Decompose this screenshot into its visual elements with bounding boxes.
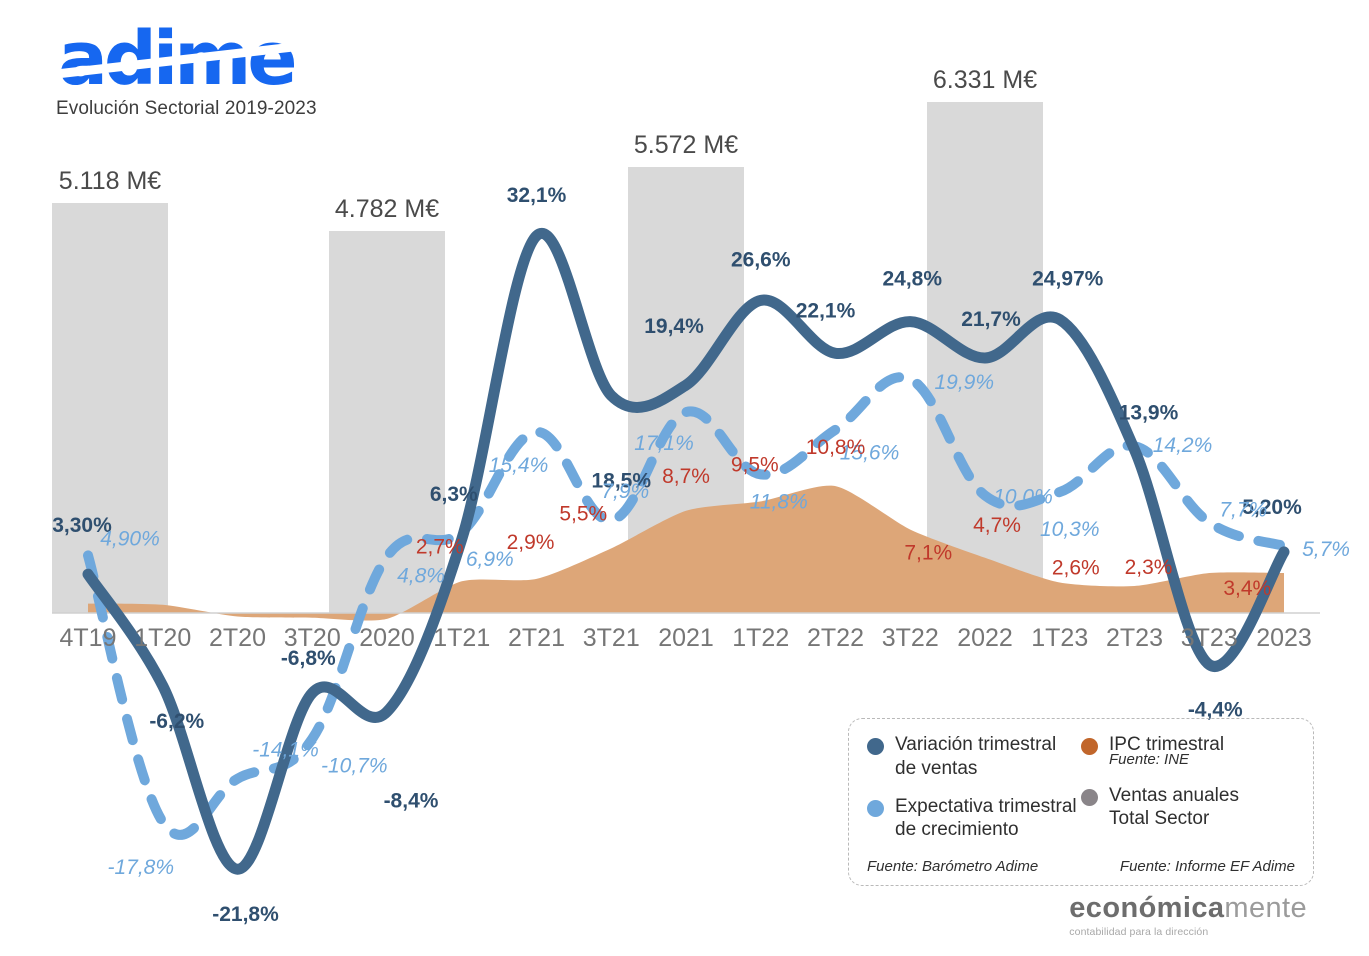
variacion-value-label: -8,4% bbox=[384, 790, 439, 813]
x-axis-label: 1T21 bbox=[433, 624, 490, 652]
legend-source-informe-ef: Fuente: Informe EF Adime bbox=[1081, 858, 1295, 875]
variacion-value-label: 21,7% bbox=[961, 308, 1021, 331]
ipc-value-label: 2,9% bbox=[507, 531, 555, 554]
x-axis-label: 3T23 bbox=[1181, 624, 1238, 652]
variacion-value-label: 19,4% bbox=[644, 315, 704, 338]
x-axis-label: 1T22 bbox=[732, 624, 789, 652]
x-axis-label: 4T19 bbox=[60, 624, 117, 652]
ipc-value-label: 2,7% bbox=[416, 535, 464, 558]
x-axis-label: 2020 bbox=[359, 624, 415, 652]
legend-label-variacion-line1: Variación trimestral bbox=[895, 734, 1056, 755]
legend-swatch-ipc-icon bbox=[1081, 738, 1098, 755]
expectativa-value-label: -14,1% bbox=[252, 739, 319, 762]
legend-item-expectativa-crecimiento[interactable]: Expectativa trimestral de crecimiento bbox=[867, 795, 1081, 843]
variacion-value-label: 24,8% bbox=[882, 268, 942, 291]
legend-label-expectativa: Expectativa trimestral de crecimiento bbox=[895, 795, 1077, 843]
expectativa-value-label: 4,8% bbox=[397, 565, 445, 588]
footer-logo: económicamente contabilidad para la dire… bbox=[1069, 894, 1307, 938]
legend-item-ipc-trimestral[interactable]: IPC trimestral Fuente: INE bbox=[1081, 733, 1295, 770]
x-axis-label: 1T20 bbox=[134, 624, 191, 652]
legend-item-variacion-trimestral-ventas[interactable]: Variación trimestral de ventas bbox=[867, 733, 1081, 781]
legend-label-variacion: Variación trimestral de ventas bbox=[895, 733, 1056, 781]
expectativa-value-label: 11,8% bbox=[750, 490, 808, 513]
footer-word-bold: económica bbox=[1069, 892, 1224, 924]
x-axis-label: 2023 bbox=[1256, 624, 1312, 652]
legend-label-ventas-anuales: Ventas anuales Total Sector bbox=[1109, 784, 1239, 832]
legend-label-ipc: IPC trimestral Fuente: INE bbox=[1109, 733, 1224, 770]
legend-swatch-ventas-anuales-icon bbox=[1081, 789, 1098, 806]
x-axis-label: 3T22 bbox=[882, 624, 939, 652]
legend-source-barometro: Fuente: Barómetro Adime bbox=[867, 858, 1081, 875]
variacion-value-label: 24,97% bbox=[1032, 268, 1104, 291]
expectativa-value-label: 7,9% bbox=[601, 480, 649, 503]
footer-word-light: mente bbox=[1224, 892, 1307, 924]
legend-label-variacion-line2: de ventas bbox=[895, 758, 977, 779]
expectativa-value-label: 4,90% bbox=[100, 527, 160, 550]
expectativa-value-label: 19,9% bbox=[934, 371, 994, 394]
x-axis-label: 3T21 bbox=[583, 624, 640, 652]
ipc-value-label: 4,7% bbox=[973, 514, 1021, 537]
annual-sales-value-label: 6.331 M€ bbox=[933, 66, 1037, 94]
variacion-value-label: 32,1% bbox=[507, 184, 567, 207]
ipc-value-label: 3,4% bbox=[1223, 577, 1271, 600]
expectativa-value-label: -10,7% bbox=[321, 755, 388, 778]
annual-sales-value-label: 4.782 M€ bbox=[335, 195, 439, 223]
variacion-value-label: -21,8% bbox=[212, 903, 279, 926]
annual-sales-bar bbox=[52, 203, 168, 613]
expectativa-value-label: 7,7% bbox=[1219, 499, 1267, 522]
ipc-value-label: 8,7% bbox=[662, 465, 710, 488]
variacion-value-label: 26,6% bbox=[731, 248, 791, 271]
variacion-value-label: 22,1% bbox=[796, 299, 856, 322]
expectativa-value-label: 10,0% bbox=[993, 486, 1053, 509]
x-axis-label: 1T23 bbox=[1031, 624, 1088, 652]
ipc-value-label: 10,8% bbox=[806, 436, 866, 459]
variacion-value-label: 6,3% bbox=[430, 483, 478, 506]
x-axis-label: 2022 bbox=[957, 624, 1013, 652]
footer-tagline: contabilidad para la dirección bbox=[1069, 926, 1307, 938]
legend-item-ventas-anuales[interactable]: Ventas anuales Total Sector bbox=[1081, 784, 1295, 832]
ipc-value-label: 2,6% bbox=[1052, 556, 1100, 579]
variacion-value-label: -6,8% bbox=[281, 647, 336, 670]
expectativa-value-label: -17,8% bbox=[107, 856, 174, 879]
legend-swatch-variacion-icon bbox=[867, 738, 884, 755]
expectativa-value-label: 14,2% bbox=[1153, 434, 1213, 457]
ipc-value-label: 5,5% bbox=[559, 502, 607, 525]
ipc-value-label: 9,5% bbox=[731, 453, 779, 476]
expectativa-value-label: 5,7% bbox=[1302, 538, 1350, 561]
legend-label-ventas-line2: Total Sector bbox=[1109, 808, 1209, 829]
variacion-value-label: -6,2% bbox=[149, 710, 204, 733]
expectativa-value-label: 17,1% bbox=[634, 432, 694, 455]
x-axis-label: 2T23 bbox=[1106, 624, 1163, 652]
annual-sales-value-label: 5.572 M€ bbox=[634, 131, 738, 159]
x-axis-label: 2T22 bbox=[807, 624, 864, 652]
chart-legend: Variación trimestral de ventas Expectati… bbox=[848, 718, 1314, 886]
ipc-value-label: 2,3% bbox=[1125, 556, 1173, 579]
expectativa-value-label: 10,3% bbox=[1040, 518, 1100, 541]
legend-label-ventas-line1: Ventas anuales bbox=[1109, 785, 1239, 806]
x-axis-label: 2T20 bbox=[209, 624, 266, 652]
footer-wordmark: económicamente bbox=[1069, 894, 1307, 923]
x-axis-label: 2T21 bbox=[508, 624, 565, 652]
x-axis-label: 2021 bbox=[658, 624, 714, 652]
legend-label-expectativa-line1: Expectativa trimestral bbox=[895, 796, 1077, 817]
legend-swatch-expectativa-icon bbox=[867, 800, 884, 817]
legend-label-expectativa-line2: de crecimiento bbox=[895, 819, 1019, 840]
ipc-value-label: 7,1% bbox=[904, 542, 952, 565]
variacion-value-label: 13,9% bbox=[1119, 402, 1179, 425]
expectativa-value-label: 15,4% bbox=[489, 454, 549, 477]
annual-sales-value-label: 5.118 M€ bbox=[59, 167, 161, 195]
